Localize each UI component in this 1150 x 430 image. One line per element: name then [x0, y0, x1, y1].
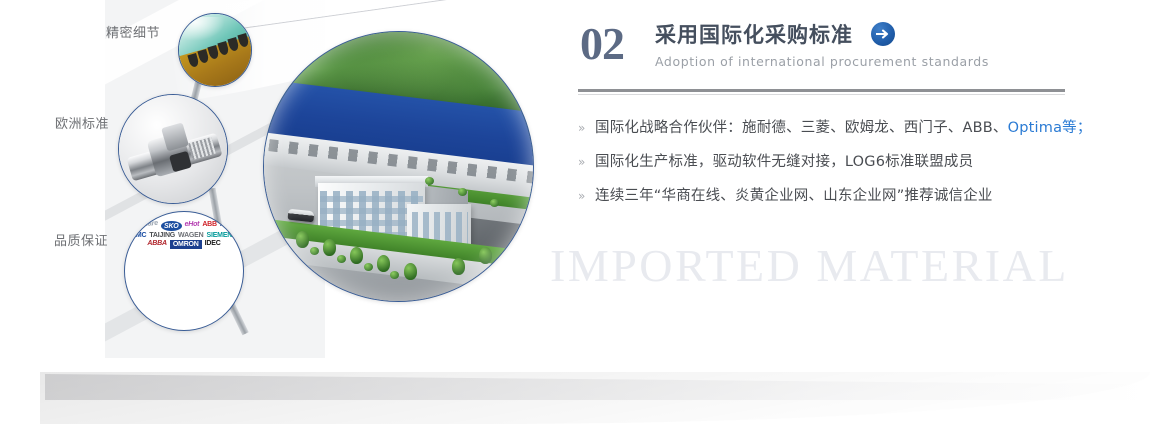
brand-logo-collage: weware SKO eHot ABB NSK SMC TAIJING WAGE…	[125, 212, 243, 330]
feature-bullet-list: » 国际化战略合作伙伴：施耐德、三菱、欧姆龙、西门子、ABB、Optima等； …	[578, 118, 1092, 220]
specular-highlight	[182, 17, 225, 41]
brand-logo-wagen: WAGEN	[178, 232, 203, 239]
bubble-factory-building	[263, 31, 534, 302]
list-item-text: 国际化生产标准，驱动软件无缝对接，LOG6标准联盟成员	[595, 152, 973, 172]
brand-logo-smc: SMC	[131, 232, 146, 239]
bubble-saw-blade-macro	[178, 13, 252, 87]
brand-logo-abb: ABB	[202, 221, 217, 231]
section-title-block: 采用国际化采购标准 Adoption of international proc…	[655, 21, 989, 69]
list-item-text: 连续三年“华商在线、炎黄企业网、山东企业网”推荐诚信企业	[595, 186, 993, 206]
page-title: 采用国际化采购标准	[655, 21, 853, 49]
section-subtitle: Adoption of international procurement st…	[655, 54, 989, 69]
chevron-double-right-icon: »	[578, 152, 595, 172]
label-european-standard: 欧洲标准	[55, 113, 109, 132]
watermark-text: IMPORTED MATERIAL	[550, 238, 1150, 294]
label-precision-detail: 精密细节	[106, 22, 160, 41]
arrow-right-circle-icon[interactable]	[871, 22, 895, 46]
list-item: » 国际化战略合作伙伴：施耐德、三菱、欧姆龙、西门子、ABB、Optima等；	[578, 118, 1092, 138]
section-number: 02	[580, 22, 624, 66]
divider-thin-line	[578, 94, 1065, 95]
right-content-column: 02 采用国际化采购标准 Adoption of international p…	[575, 0, 1150, 430]
promo-banner: 精密细节 欧洲标准 品质保证 weware SKO eHot ABB NSK S…	[0, 0, 1150, 430]
list-item-text-prefix: 国际化战略合作伙伴：施耐德、三菱、欧姆龙、西门子、ABB、	[595, 120, 1008, 136]
list-item-text: 国际化战略合作伙伴：施耐德、三菱、欧姆龙、西门子、ABB、Optima等；	[595, 118, 1092, 138]
brand-logo-sko: SKO	[161, 221, 182, 231]
list-item: » 连续三年“华商在线、炎黄企业网、山东企业网”推荐诚信企业	[578, 186, 1092, 206]
photo-vignette	[264, 32, 533, 301]
list-item-text-highlight: Optima等；	[1008, 120, 1092, 136]
brand-logo-nsk: NSK	[220, 221, 234, 231]
brand-logo-omron: OMRON	[170, 240, 202, 249]
list-item-text-prefix: 连续三年“华商在线、炎黄企业网、山东企业网”推荐诚信企业	[595, 188, 993, 204]
label-quality-assurance: 品质保证	[54, 230, 108, 249]
bubble-brand-logos: weware SKO eHot ABB NSK SMC TAIJING WAGE…	[124, 211, 244, 331]
brand-logo-ehot: eHot	[185, 221, 200, 231]
chevron-double-right-icon: »	[578, 186, 595, 206]
list-item: » 国际化生产标准，驱动软件无缝对接，LOG6标准联盟成员	[578, 152, 1092, 172]
brand-logo-siemens: SIEMENS	[207, 232, 237, 239]
brand-logo-abba: ABBA	[147, 240, 166, 249]
brand-logo-weware: weware	[133, 220, 158, 232]
bubble-ball-screw	[118, 94, 228, 204]
list-item-text-prefix: 国际化生产标准，驱动软件无缝对接，LOG6标准联盟成员	[595, 154, 973, 170]
header-divider	[578, 89, 1065, 95]
brand-logo-taijing: TAIJING	[149, 232, 175, 239]
chevron-double-right-icon: »	[578, 118, 595, 138]
divider-thick-line	[578, 89, 1065, 92]
factory-photo	[264, 32, 533, 301]
brand-logo-idec: IDEC	[205, 240, 221, 249]
